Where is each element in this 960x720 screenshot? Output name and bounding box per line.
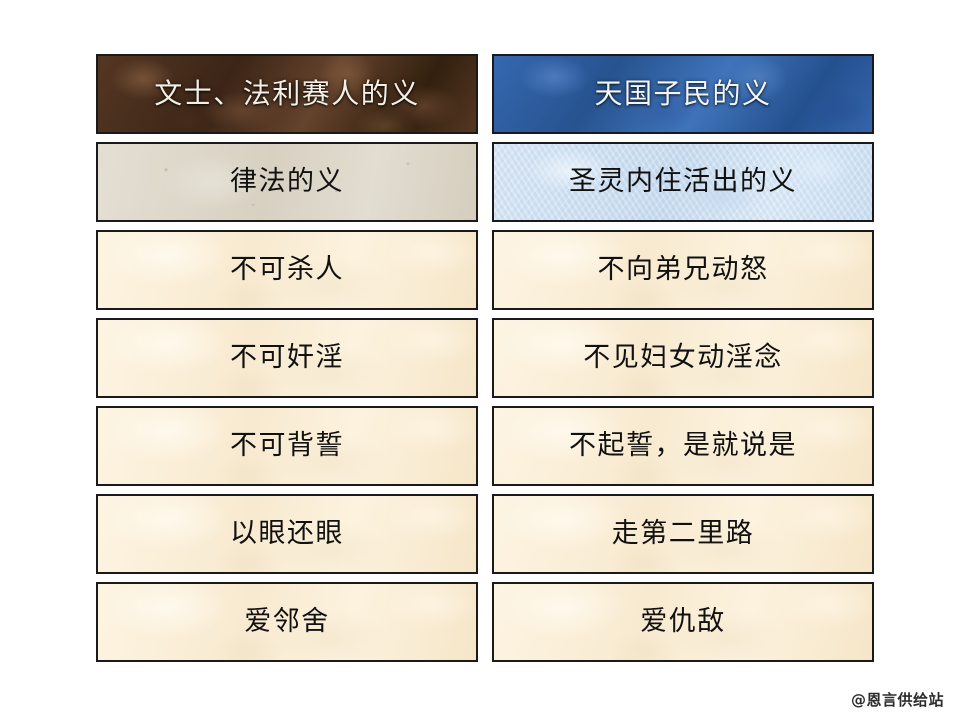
table-row: 以眼还眼 (96, 494, 478, 574)
row-label-left: 爱邻舍 (244, 606, 330, 637)
row-label-right: 不见妇女动淫念 (583, 342, 783, 373)
table-header-cell-left: 文士、法利赛人的义 (96, 54, 478, 134)
header-label-left: 文士、法利赛人的义 (154, 78, 420, 110)
watermark-label: @恩言供给站 (851, 689, 944, 710)
table-row: 不可背誓 (96, 406, 478, 486)
row-label-left: 不可奸淫 (230, 342, 344, 373)
table-row: 不向弟兄动怒 (492, 230, 874, 310)
table-row: 爱邻舍 (96, 582, 478, 662)
row-label-left: 不可背誓 (230, 430, 344, 461)
table-row: 不可奸淫 (96, 318, 478, 398)
table-row: 不起誓，是就说是 (492, 406, 874, 486)
row-label-right: 不向弟兄动怒 (598, 254, 769, 285)
slide-canvas: 文士、法利赛人的义 天国子民的义 律法的义 圣灵内住活出的义 不可杀人 不向弟兄… (0, 0, 960, 720)
table-row: 不可杀人 (96, 230, 478, 310)
header-label-right: 天国子民的义 (594, 78, 771, 110)
table-row: 爱仇敌 (492, 582, 874, 662)
row-label-left: 以眼还眼 (230, 518, 344, 549)
table-row: 不见妇女动淫念 (492, 318, 874, 398)
row-label-right: 不起誓，是就说是 (569, 430, 797, 461)
table-subheader-cell-left: 律法的义 (96, 142, 478, 222)
row-label-right: 走第二里路 (612, 518, 755, 549)
table-subheader-cell-right: 圣灵内住活出的义 (492, 142, 874, 222)
row-label-right: 爱仇敌 (640, 606, 726, 637)
comparison-table: 文士、法利赛人的义 天国子民的义 律法的义 圣灵内住活出的义 不可杀人 不向弟兄… (96, 54, 874, 666)
row-label-left: 不可杀人 (230, 254, 344, 285)
table-header-cell-right: 天国子民的义 (492, 54, 874, 134)
subheader-label-left: 律法的义 (230, 166, 344, 197)
table-row: 走第二里路 (492, 494, 874, 574)
subheader-label-right: 圣灵内住活出的义 (569, 166, 797, 197)
